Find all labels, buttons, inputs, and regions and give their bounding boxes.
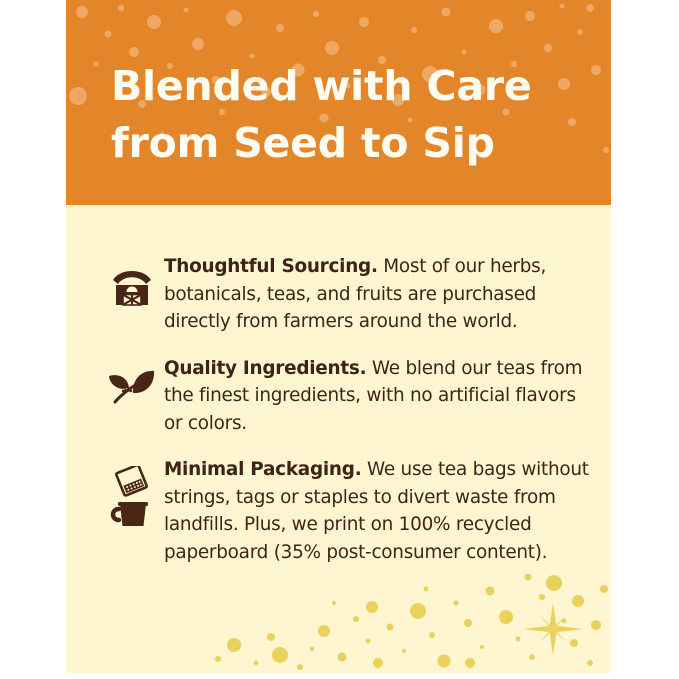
barn-icon xyxy=(100,253,164,307)
feature-heading: Thoughtful Sourcing. xyxy=(164,256,378,277)
brand-info-card: Blended with Care from Seed to Sip Thoug… xyxy=(66,0,611,673)
feature-heading: Minimal Packaging. xyxy=(164,459,361,480)
feature-text: Quality Ingredients. We blend our teas f… xyxy=(164,355,611,438)
bottom-sparkle-decoration xyxy=(66,563,611,673)
page-title: Blended with Care from Seed to Sip xyxy=(111,58,581,172)
feature-list: Thoughtful Sourcing. Most of our herbs, … xyxy=(66,205,611,566)
card-header: Blended with Care from Seed to Sip xyxy=(66,0,611,205)
sparkle-star-icon xyxy=(523,603,583,655)
title-line-1: Blended with Care xyxy=(111,62,531,110)
feature-item-minimal-packaging: Minimal Packaging. We use tea bags witho… xyxy=(66,456,611,566)
title-line-2: from Seed to Sip xyxy=(111,115,581,172)
feature-item-thoughtful-sourcing: Thoughtful Sourcing. Most of our herbs, … xyxy=(66,253,611,336)
teabag-mug-icon xyxy=(100,456,164,528)
feature-text: Minimal Packaging. We use tea bags witho… xyxy=(164,456,611,566)
feature-item-quality-ingredients: Quality Ingredients. We blend our teas f… xyxy=(66,355,611,438)
feature-heading: Quality Ingredients. xyxy=(164,358,366,379)
leaves-icon xyxy=(100,355,164,405)
feature-text: Thoughtful Sourcing. Most of our herbs, … xyxy=(164,253,611,336)
